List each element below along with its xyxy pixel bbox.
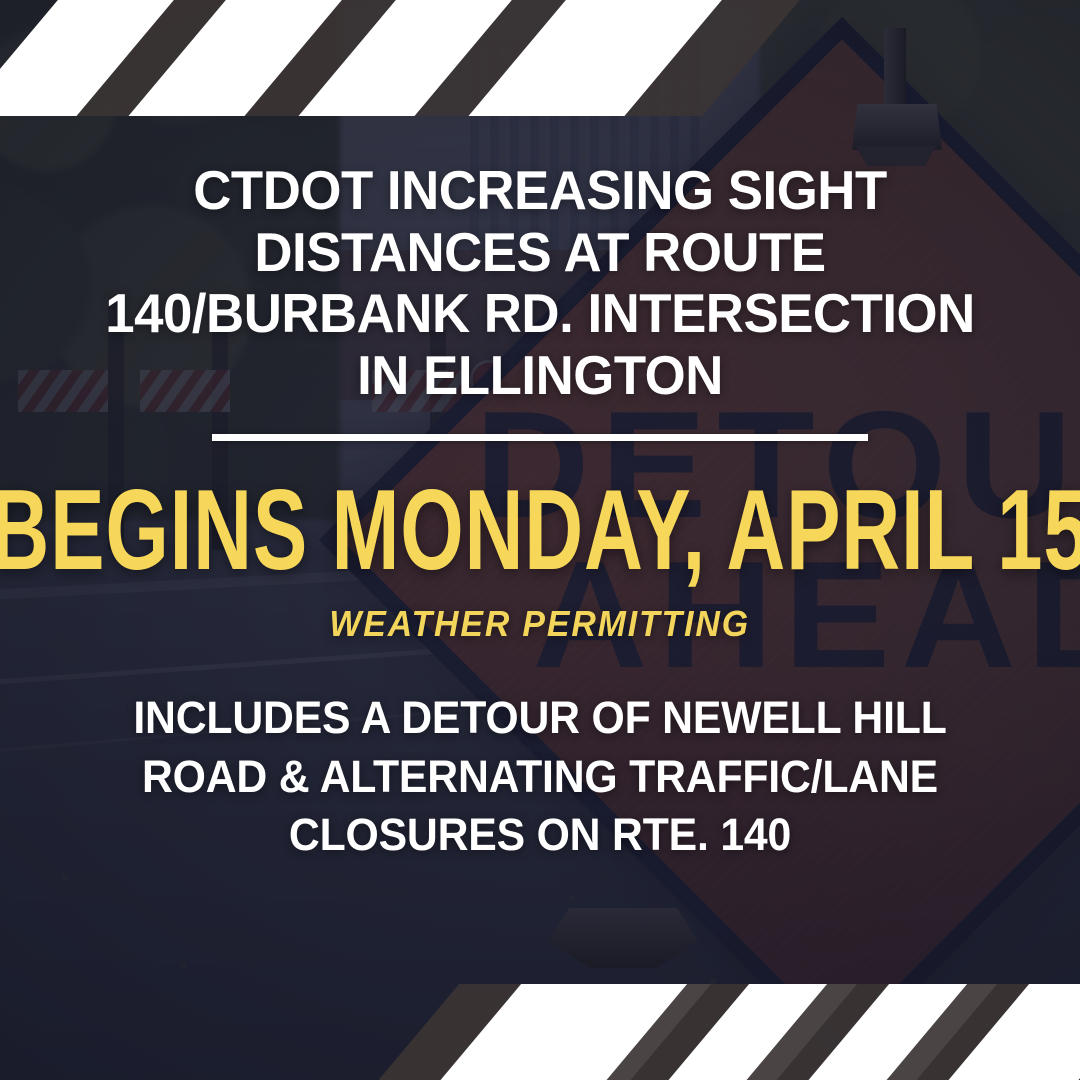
detour-detail-line-1: INCLUDES A DETOUR OF NEWELL HILL [89, 689, 992, 748]
detour-detail-line-2: ROAD & ALTERNATING TRAFFIC/LANE [89, 748, 992, 807]
start-date-line: BEGINS MONDAY, APRIL 15 [0, 473, 1080, 587]
poster-headline: CTDOT INCREASING SIGHT DISTANCES AT ROUT… [79, 160, 1001, 406]
detour-detail-line-3: CLOSURES ON RTE. 140 [89, 806, 992, 865]
divider-rule [212, 434, 868, 441]
poster-content: CTDOT INCREASING SIGHT DISTANCES AT ROUT… [0, 0, 1080, 1080]
detour-detail-text: INCLUDES A DETOUR OF NEWELL HILL ROAD & … [89, 689, 992, 865]
traffic-advisory-poster: DETOUR AHEAD CTDOT INCREASING SIGHT DIST… [0, 0, 1080, 1080]
weather-permitting-note: WEATHER PERMITTING [330, 603, 750, 645]
